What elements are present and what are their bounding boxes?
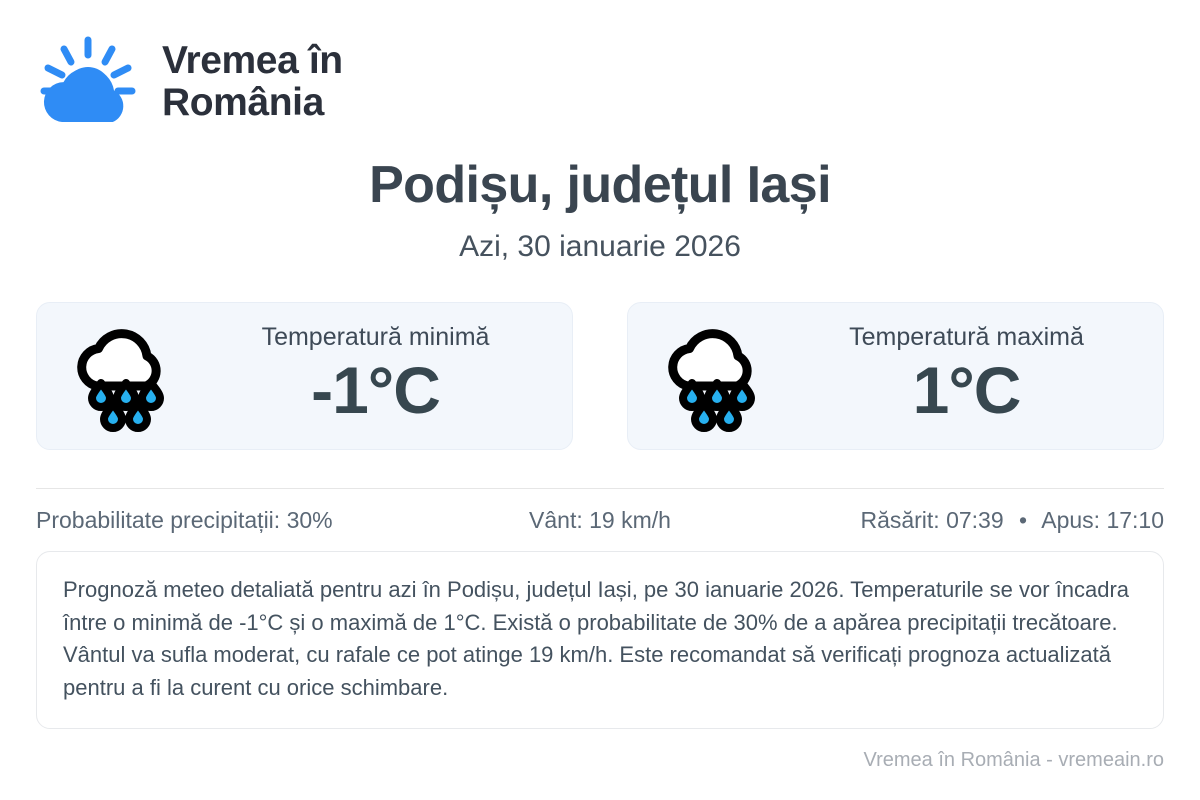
sun-behind-cloud-icon (36, 36, 144, 128)
site-header: Vremea în România (36, 0, 1164, 118)
title-block: Podișu, județul Iași Azi, 30 ianuarie 20… (36, 156, 1164, 264)
footer-credit: Vremea în România - vremeain.ro (864, 749, 1165, 772)
max-temperature-card: Temperatură maximă 1°C (627, 302, 1164, 450)
rain-cloud-icon (67, 320, 185, 432)
sunset-value: Apus: 17:10 (1041, 507, 1164, 533)
sun-times-separator: • (1010, 507, 1036, 533)
temperature-cards: Temperatură minimă -1°C Temperatură maxi… (36, 302, 1164, 450)
min-temperature-card: Temperatură minimă -1°C (36, 302, 573, 450)
max-temperature-label: Temperatură maximă (849, 324, 1084, 352)
sun-times-stat: Răsărit: 07:39 • Apus: 17:10 (788, 507, 1164, 534)
max-temperature-value: 1°C (913, 353, 1021, 429)
min-temperature-value: -1°C (311, 353, 440, 429)
rain-cloud-icon (658, 320, 776, 432)
precipitation-stat: Probabilitate precipitații: 30% (36, 507, 412, 534)
wind-stat: Vânt: 19 km/h (412, 507, 788, 534)
sunrise-value: Răsărit: 07:39 (860, 507, 1003, 533)
weather-page: Vremea în România Podișu, județul Iași A… (0, 0, 1200, 800)
page-subtitle: Azi, 30 ianuarie 2026 (36, 230, 1164, 264)
page-title: Podișu, județul Iași (36, 156, 1164, 214)
brand-name: Vremea în România (162, 40, 343, 123)
stats-row: Probabilitate precipitații: 30% Vânt: 19… (36, 489, 1164, 551)
min-temperature-label: Temperatură minimă (262, 324, 490, 352)
forecast-description: Prognoză meteo detaliată pentru azi în P… (36, 551, 1164, 729)
